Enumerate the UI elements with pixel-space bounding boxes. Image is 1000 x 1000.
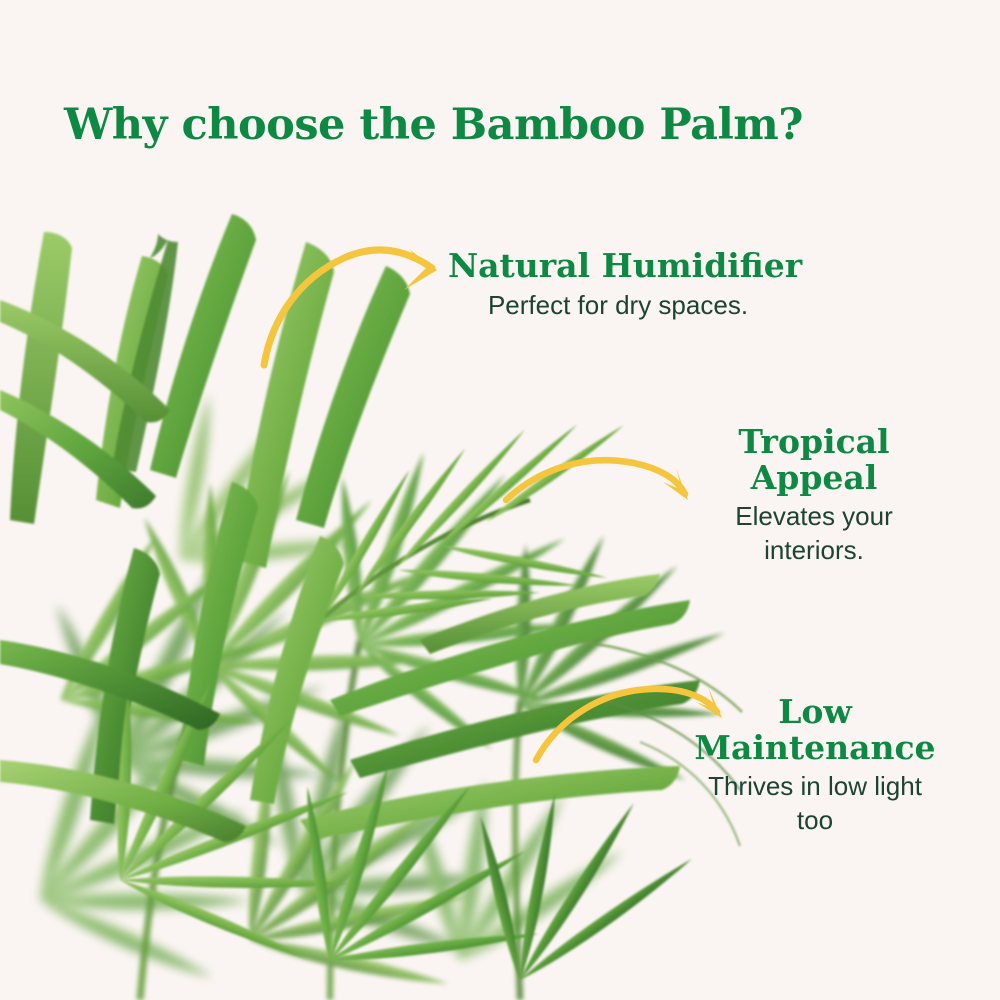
feature-title: Tropical Appeal (694, 424, 934, 495)
feature-natural-humidifier: Natural Humidifier Perfect for dry space… (448, 248, 788, 322)
curved-arrow-up-right-1 (264, 249, 437, 365)
feature-description: Perfect for dry spaces. (448, 289, 788, 322)
page-title: Why choose the Bamboo Palm? (64, 100, 803, 150)
feature-title: Low Maintenance (690, 694, 940, 765)
feature-tropical-appeal: Tropical Appeal Elevates your interiors. (694, 424, 934, 567)
feature-description: Thrives in low light too (690, 770, 940, 837)
feature-low-maintenance: Low Maintenance Thrives in low light too (690, 694, 940, 837)
feature-title: Natural Humidifier (448, 248, 788, 284)
feature-description: Elevates your interiors. (694, 500, 934, 567)
infographic-card: Why choose the Bamboo Palm? Natural Humi… (0, 0, 1000, 1000)
curved-arrow-right-down-2 (506, 460, 688, 500)
